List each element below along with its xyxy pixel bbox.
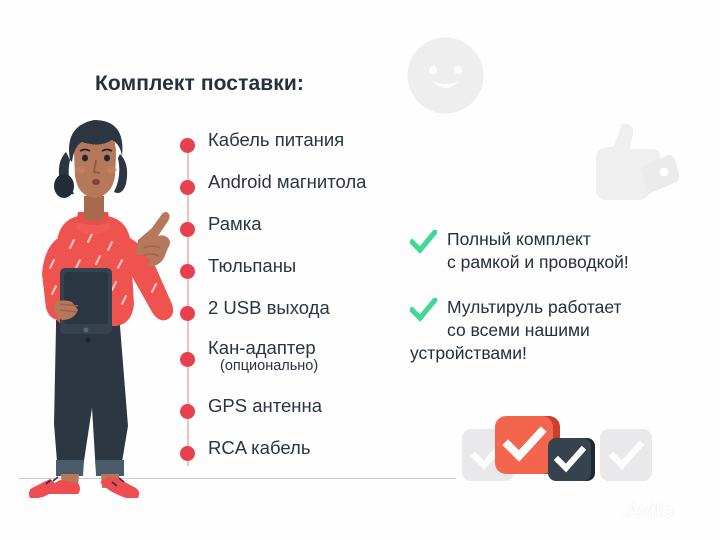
spec-label: Кабель питания [208, 130, 428, 150]
avito-watermark-text: Avito [626, 500, 673, 523]
smiley-face-icon [407, 37, 484, 114]
benefits-block: Полный комплект с рамкой и проводкой! Му… [410, 228, 710, 381]
spec-label: 2 USB выхода [208, 298, 428, 318]
list-item: Android магнитола [178, 172, 428, 214]
woman-pointing-with-tablet-illustration [16, 108, 186, 500]
spec-label: Рамка [208, 214, 428, 234]
spec-sublabel: (опционально) [208, 358, 428, 375]
spec-label: Android магнитола [208, 172, 428, 192]
promo-card: Комплект поставки: Кабель питания Androi… [0, 0, 720, 540]
benefit-item: Полный комплект с рамкой и проводкой! [410, 228, 710, 274]
spec-list: Кабель питания Android магнитола Рамка Т… [178, 130, 428, 478]
checkbox-card-dark [548, 438, 591, 481]
checkbox-card-grey-right [600, 429, 652, 481]
list-item: Рамка [178, 214, 428, 256]
list-item: 2 USB выхода [178, 298, 428, 338]
spec-label: Кан-адаптер [208, 338, 428, 358]
spec-label: RCA кабель [208, 438, 428, 458]
page-title: Комплект поставки: [95, 72, 304, 96]
list-item: GPS антенна [178, 396, 428, 438]
check-icon [410, 298, 437, 322]
benefit-item: Мультируль работает со всеми нашими устр… [410, 296, 710, 365]
benefit-line: с рамкой и проводкой! [447, 251, 710, 274]
check-icon [410, 230, 437, 254]
avito-watermark: Avito [606, 500, 673, 523]
list-item: Тюльпаны [178, 256, 428, 298]
spec-label: GPS антенна [208, 396, 428, 416]
benefit-line: Полный комплект [447, 228, 710, 251]
benefit-line: Мультируль работает [447, 296, 710, 319]
benefit-line: устройствами! [410, 342, 710, 365]
list-item: RCA кабель [178, 438, 428, 478]
thumbs-up-icon [578, 108, 684, 214]
spec-label: Тюльпаны [208, 256, 428, 276]
checkbox-cards-group [462, 412, 652, 484]
list-item: Кабель питания [178, 130, 428, 172]
avito-logo-icon [606, 503, 623, 520]
benefit-line: со всеми нашими [447, 319, 710, 342]
list-item: Кан-адаптер (опционально) [178, 338, 428, 396]
checkbox-card-coral [495, 416, 553, 474]
